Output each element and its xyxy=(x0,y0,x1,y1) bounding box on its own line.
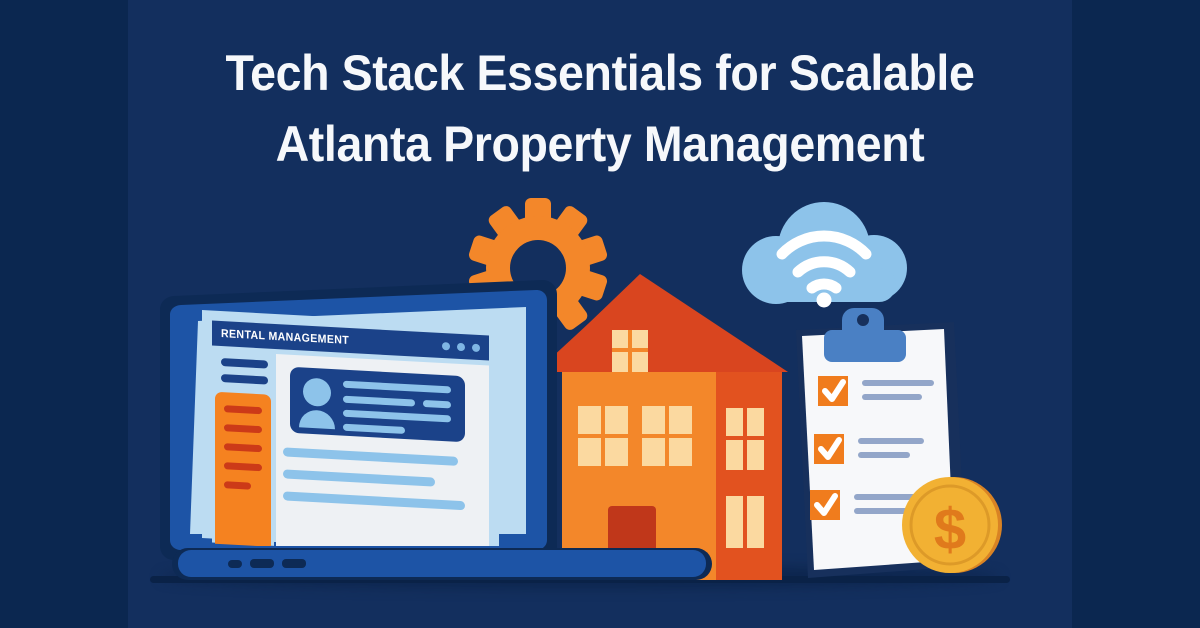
poster-canvas: Tech Stack Essentials for Scalable Atlan… xyxy=(0,0,1200,628)
laptop-port xyxy=(282,559,306,568)
laptop-port xyxy=(228,560,242,568)
laptop-base-layer xyxy=(0,0,1200,628)
laptop-port xyxy=(250,559,274,568)
